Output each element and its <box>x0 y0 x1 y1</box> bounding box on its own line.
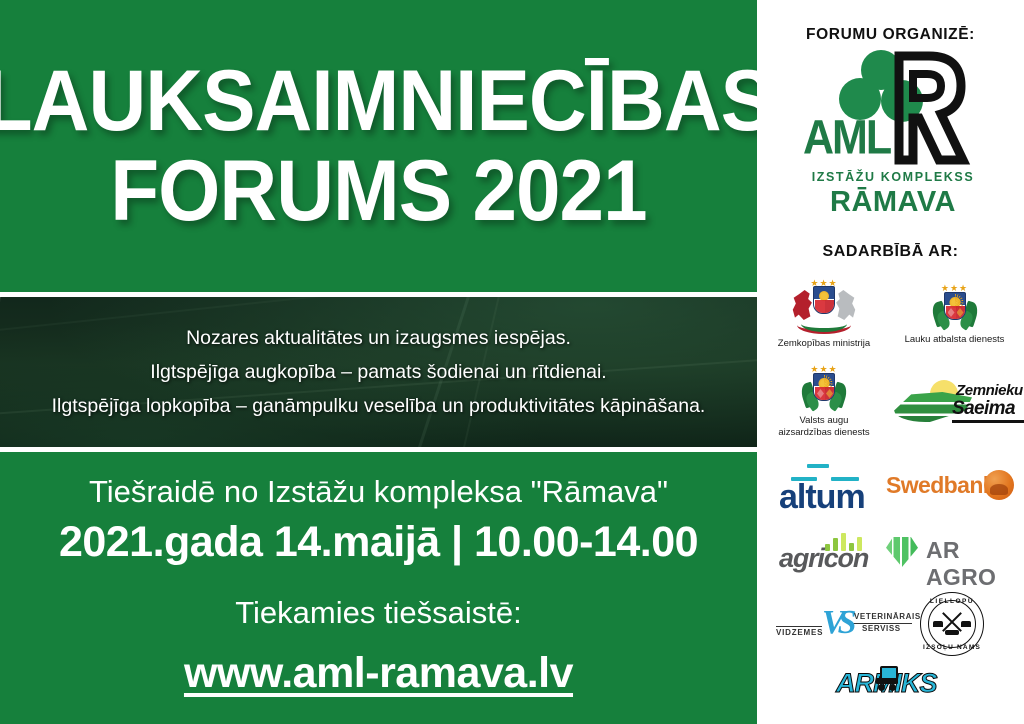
serviss-word: SERVISS <box>862 624 901 633</box>
ar-agro-wordmark: AR AGRO <box>926 537 1021 591</box>
truck-wheel-icon <box>878 684 885 691</box>
divider <box>776 626 822 627</box>
zemnieku-word: Zemnieku <box>956 382 1023 399</box>
swedbank-oak-icon <box>984 470 1014 500</box>
shield-lower-half-icon <box>815 387 835 401</box>
truck-wheel-icon <box>889 684 896 691</box>
topic-item: Nozares aktualitātes un izaugsmes iespēj… <box>186 327 571 350</box>
altum-wordmark: altum <box>779 478 865 517</box>
event-info-band: Tiešraidē no Izstāžu kompleksa "Rāmava" … <box>0 452 757 724</box>
event-info: Tiešraidē no Izstāžu kompleksa "Rāmava" … <box>0 452 757 724</box>
event-date-time: 2021.gada 14.maijā | 10.00-14.00 <box>59 518 698 567</box>
partner-caption: Lauku atbalsta dienests <box>905 334 1005 346</box>
topics-list: Nozares aktualitātes un izaugsmes iespēj… <box>0 297 757 447</box>
partner-logo-zemnieku-saeima[interactable]: Zemnieku Saeima <box>894 378 1014 426</box>
title-line-1: LAUKSAIMNIECĪBAS <box>0 59 773 143</box>
partner-logo-armiks[interactable]: ARMIKS <box>836 668 946 702</box>
saeima-word: Saeima <box>952 398 1015 420</box>
sponsors-sidebar: FORUMU ORGANIZĒ: AML IZSTĀŽU KOMPLEKSS R… <box>757 0 1024 724</box>
truck-bed-icon <box>876 678 898 684</box>
underline-rule <box>952 420 1024 423</box>
three-stars-icon: ★★★ <box>941 284 968 293</box>
wreath-icon <box>801 316 847 332</box>
shield-icon <box>813 373 835 401</box>
partner-logo-vidzemes-veterinarais-serviss[interactable]: VS VIDZEMES VETERINĀRAIS SERVISS <box>776 604 906 646</box>
latvia-coat-of-arms-icon: ★★★ <box>802 365 846 411</box>
organizer-heading: FORUMU ORGANIZĒ: <box>757 26 1024 44</box>
partner-caption: Zemkopības ministrija <box>778 338 870 350</box>
altum-dash-icon <box>807 464 829 468</box>
shield-lower-half-icon <box>815 300 835 314</box>
latvia-coat-of-arms-icon: ★★★ <box>789 282 859 334</box>
partner-logo-lauku-atbalsta-dienests[interactable]: ★★★ Lauku atbalsta dienests <box>892 284 1017 346</box>
stream-location: Tiešraidē no Izstāžu kompleksa "Rāmava" <box>89 474 668 510</box>
topic-item: Ilgtspējīga augkopība – pamats šodienai … <box>150 361 606 384</box>
partner-logo-valsts-augu-aizsardzibas-dienests[interactable]: ★★★ Valsts augu aizsardzības dienests <box>765 365 883 439</box>
latvia-coat-of-arms-icon: ★★★ <box>933 284 977 330</box>
partner-logo-agricon[interactable]: agricon <box>779 531 879 579</box>
cow-silhouette-icon <box>945 630 959 635</box>
partner-logo-altum[interactable]: altum <box>779 462 884 512</box>
aml-subtitle: IZSTĀŽU KOMPLEKSS <box>793 170 993 184</box>
shield-lower-half-icon <box>946 306 966 320</box>
aml-name: RĀMAVA <box>793 186 993 219</box>
poster-title: LAUKSAIMNIECĪBAS FORUMS 2021 <box>0 0 757 292</box>
vs-monogram-icon: VS <box>822 604 850 642</box>
shield-icon <box>813 286 835 314</box>
poster-root: LAUKSAIMNIECĪBAS FORUMS 2021 Nozares akt… <box>0 0 1024 724</box>
aml-acronym: AML <box>803 111 890 166</box>
shield-icon <box>944 292 966 320</box>
three-stars-icon: ★★★ <box>810 365 837 374</box>
agricon-wordmark: agricon <box>779 543 868 574</box>
ar-agro-hex-icon <box>886 537 918 567</box>
vidzemes-word: VIDZEMES <box>776 628 823 637</box>
partner-logo-swedbank[interactable]: Swedbank <box>886 470 1018 510</box>
topic-item: Ilgtspējīga lopkopība – ganāmpulku vesel… <box>52 395 706 418</box>
veterinarais-word: VETERINĀRAIS <box>854 612 921 621</box>
partner-caption-line1: Valsts augu <box>800 415 849 427</box>
cow-silhouette-icon <box>933 621 943 627</box>
cow-silhouette-icon <box>961 621 971 627</box>
meet-online-label: Tiekamies tiešsaistē: <box>235 595 522 631</box>
partners-heading: SADARBĪBĀ AR: <box>757 243 1024 261</box>
partner-logo-zemkopibas-ministrija[interactable]: ★★★ Zemkopības ministrija <box>765 282 883 350</box>
topics-photo-band: Nozares aktualitātes un izaugsmes iespēj… <box>0 297 757 447</box>
oak-tree-icon <box>990 484 1008 495</box>
partner-caption-line2: aizsardzības dienests <box>778 427 869 439</box>
truck-icon <box>876 666 898 692</box>
website-url-link[interactable]: www.aml-ramava.lv <box>184 649 573 698</box>
aml-ramava-logo[interactable]: AML IZSTĀŽU KOMPLEKSS RĀMAVA <box>793 48 993 228</box>
three-stars-icon: ★★★ <box>810 278 837 289</box>
swedbank-wordmark: Swedbank <box>886 472 995 499</box>
liellopu-top-text: LIELLOPU <box>921 598 983 605</box>
title-band: LAUKSAIMNIECĪBAS FORUMS 2021 <box>0 0 757 292</box>
partner-logo-ar-agro[interactable]: AR AGRO <box>886 533 1021 575</box>
title-line-2: FORUMS 2021 <box>110 149 646 233</box>
izsolu-nams-bottom-text: IZSOĻU NAMS <box>921 644 983 651</box>
poster-left-panel: LAUKSAIMNIECĪBAS FORUMS 2021 Nozares akt… <box>0 0 757 724</box>
partner-logo-liellopu-izsolu-nams[interactable]: LIELLOPU IZSOĻU NAMS <box>920 592 984 656</box>
